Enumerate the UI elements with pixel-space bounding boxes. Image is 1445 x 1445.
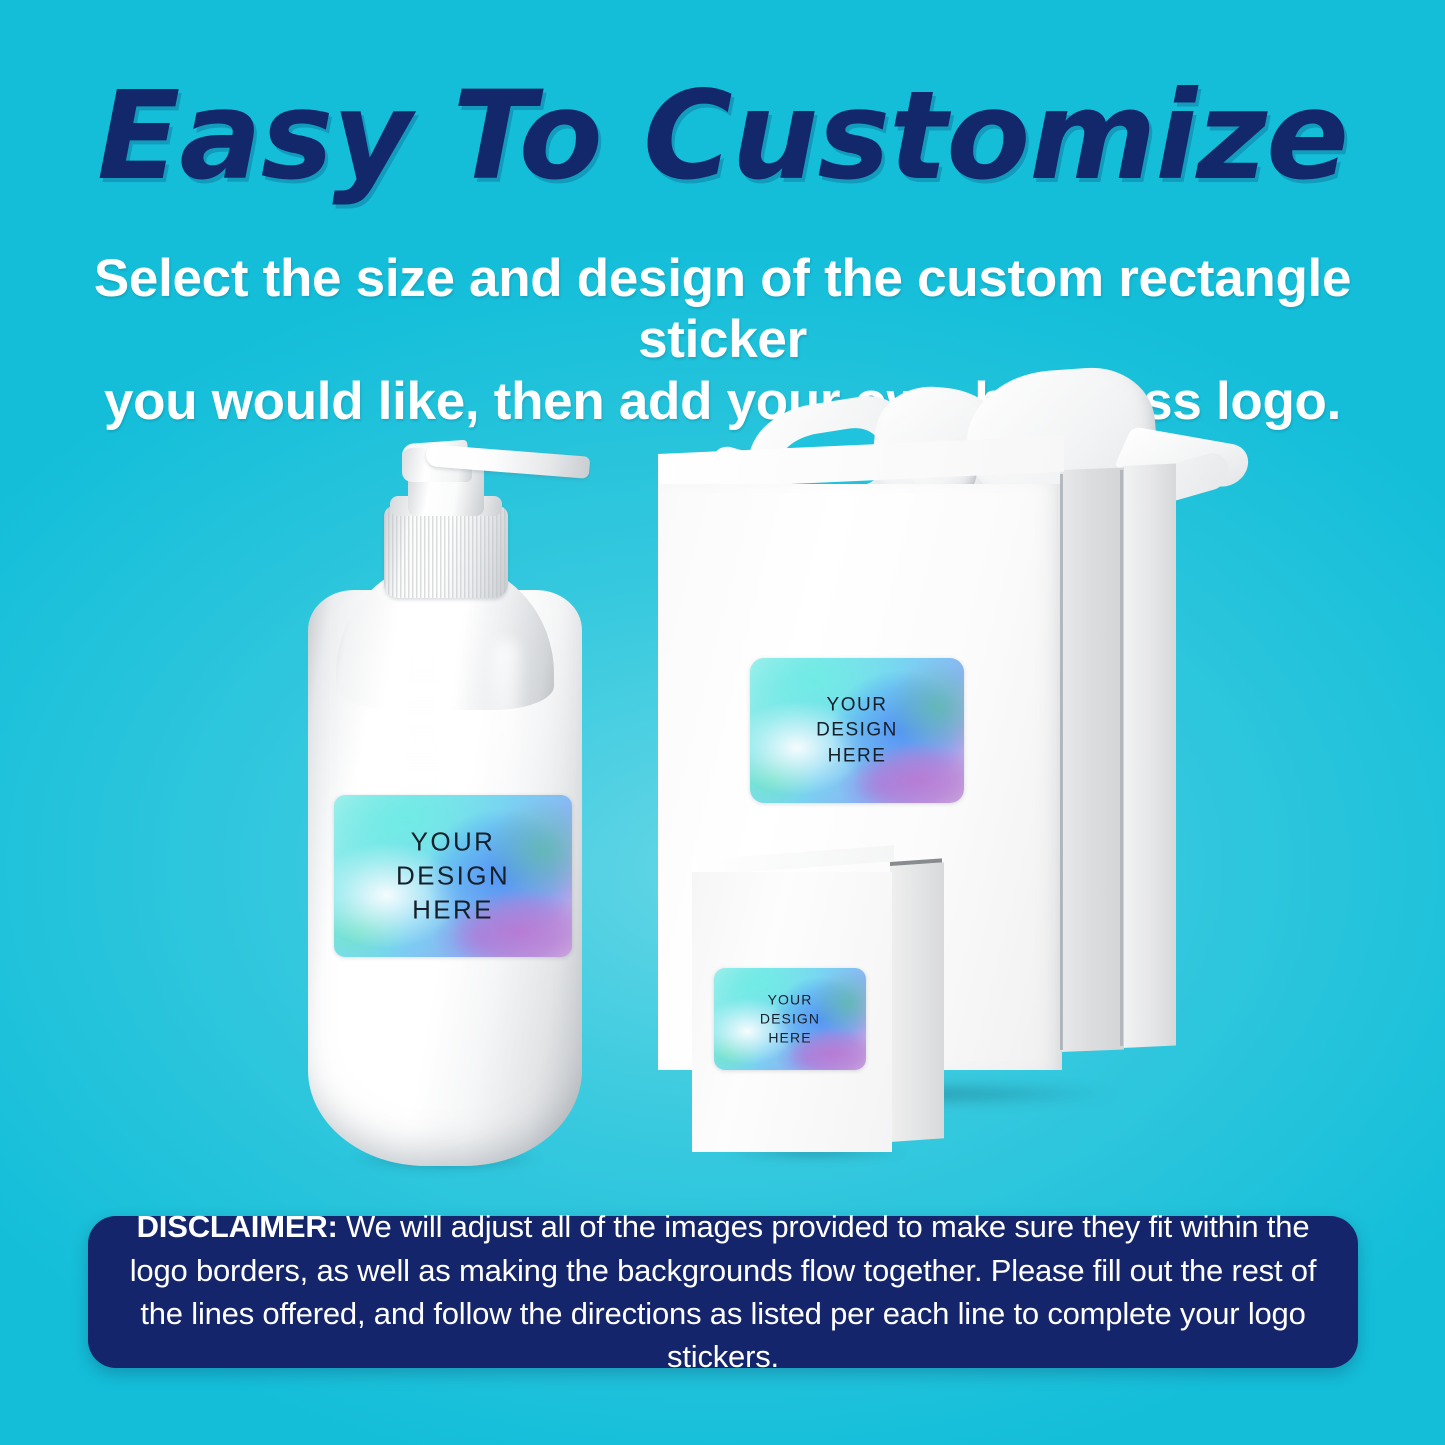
small-box-side-panel [890, 862, 944, 1142]
gift-box-side-panel [1060, 468, 1124, 1052]
sticker-text-line-3: HERE [750, 743, 964, 769]
page-title: Easy To Customize [0, 74, 1445, 198]
gift-box-sticker-label: YOUR DESIGN HERE [750, 658, 964, 803]
disclaimer-text: DISCLAIMER: We will adjust all of the im… [118, 1205, 1328, 1379]
disclaimer-banner: DISCLAIMER: We will adjust all of the im… [88, 1216, 1358, 1368]
promo-graphic: Easy To Customize Select the size and de… [0, 0, 1445, 1445]
disclaimer-label: DISCLAIMER: [137, 1209, 338, 1244]
bottle-highlight-secondary [492, 640, 518, 820]
sticker-text-line-2: DESIGN [750, 718, 964, 744]
sticker-text-line-1: YOUR [750, 692, 964, 718]
bottle-sticker-label: YOUR DESIGN HERE [334, 795, 572, 957]
gift-box-edge-line [1060, 474, 1063, 1050]
pump-collar [384, 506, 508, 598]
sticker-placeholder-text: YOUR DESIGN HERE [750, 692, 964, 769]
small-box-sticker-label: YOUR DESIGN HERE [714, 968, 866, 1070]
sticker-text-line-1: YOUR [714, 990, 866, 1009]
small-product-box-mockup: YOUR DESIGN HERE [672, 858, 962, 1158]
sticker-text-line-1: YOUR [334, 825, 572, 859]
sticker-text-line-2: DESIGN [334, 859, 572, 893]
sticker-text-line-2: DESIGN [714, 1009, 866, 1028]
sticker-placeholder-text: YOUR DESIGN HERE [334, 825, 572, 926]
sticker-placeholder-text: YOUR DESIGN HERE [714, 990, 866, 1047]
page-subtitle-line-1: Select the size and design of the custom… [78, 248, 1368, 371]
sticker-text-line-3: HERE [714, 1029, 866, 1048]
pump-bottle-mockup: YOUR DESIGN HERE [296, 430, 596, 1170]
sticker-text-line-3: HERE [334, 893, 572, 927]
gift-box-edge-line-secondary [1120, 470, 1123, 1046]
gift-box-back-panel [1122, 464, 1176, 1048]
